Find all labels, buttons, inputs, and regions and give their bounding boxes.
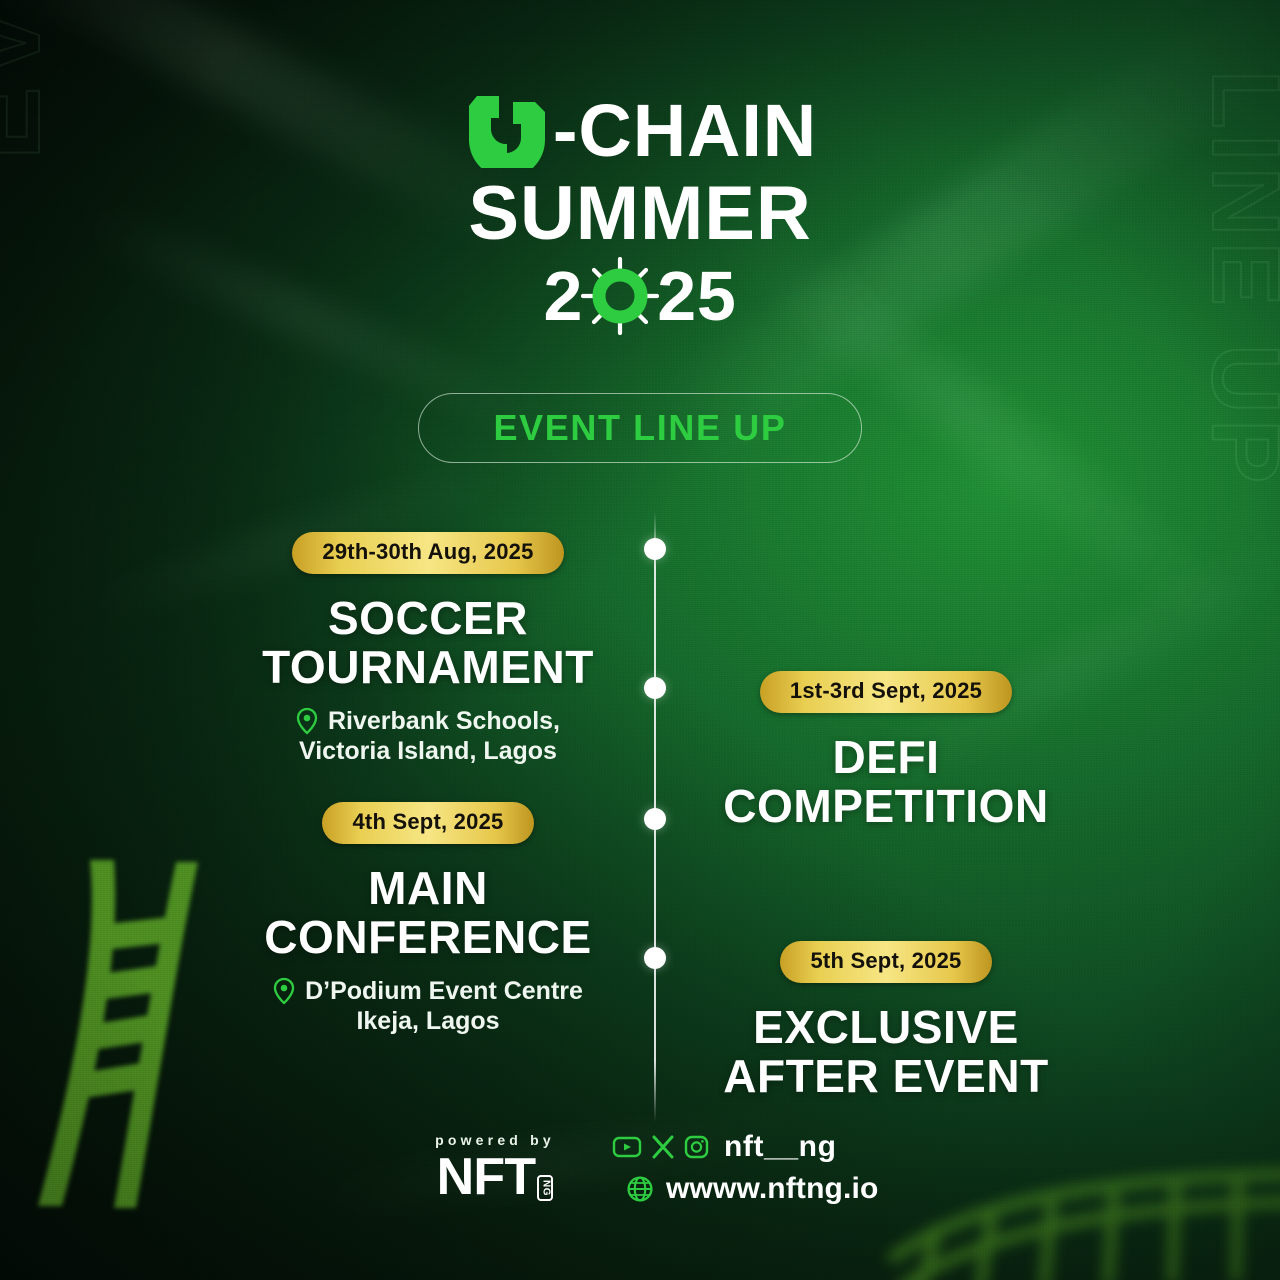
title-line-1: -CHAIN <box>0 92 1280 170</box>
event-location: D’Podium Event Centre Ikeja, Lagos <box>178 976 678 1036</box>
poster-content: -CHAIN SUMMER 2 <box>0 0 1280 1280</box>
event-card-defi-competition: 1st-3rd Sept, 2025 DEFI COMPETITION <box>636 671 1136 831</box>
year-suffix: 25 <box>657 261 736 331</box>
event-title-line-1: DEFI <box>636 733 1136 782</box>
event-title-line-1: SOCCER <box>178 594 678 643</box>
event-title: EXCLUSIVE AFTER EVENT <box>636 1003 1136 1101</box>
title-block: -CHAIN SUMMER 2 <box>0 92 1280 332</box>
powered-by-block: powered by NFT NG <box>420 1132 570 1201</box>
event-date-badge: 5th Sept, 2025 <box>780 941 991 983</box>
nft-logo: NFT NG <box>420 1154 570 1201</box>
x-twitter-icon[interactable] <box>651 1135 675 1159</box>
event-title-line-1: EXCLUSIVE <box>636 1003 1136 1052</box>
un-chain-link-icon <box>463 94 549 168</box>
social-block: nft__ng wwww.nftng.io <box>612 1130 878 1206</box>
event-location-line-2: Ikeja, Lagos <box>178 1006 678 1036</box>
event-title-line-2: COMPETITION <box>636 782 1136 831</box>
event-location-line-2: Victoria Island, Lagos <box>178 736 678 766</box>
instagram-icon[interactable] <box>684 1135 709 1159</box>
website-text[interactable]: wwww.nftng.io <box>666 1172 878 1206</box>
title-summer-text: SUMMER <box>0 176 1280 252</box>
event-date-badge: 4th Sept, 2025 <box>322 802 533 844</box>
event-card-main-conference: 4th Sept, 2025 MAIN CONFERENCE D’Podium … <box>178 802 678 1036</box>
footer: powered by NFT NG <box>0 1124 1280 1234</box>
event-title: MAIN CONFERENCE <box>178 864 678 962</box>
title-chain-text: -CHAIN <box>553 94 817 168</box>
event-date-badge: 1st-3rd Sept, 2025 <box>760 671 1012 713</box>
event-date-badge: 29th-30th Aug, 2025 <box>292 532 563 574</box>
title-year: 2 25 <box>0 260 1280 332</box>
event-lineup-badge: EVENT LINE UP <box>418 393 862 463</box>
sun-icon <box>581 257 659 335</box>
event-title: SOCCER TOURNAMENT <box>178 594 678 692</box>
globe-icon[interactable] <box>626 1175 654 1203</box>
social-handle-text[interactable]: nft__ng <box>724 1130 837 1164</box>
powered-by-label: powered by <box>420 1132 570 1148</box>
year-prefix: 2 <box>544 261 584 331</box>
map-pin-icon <box>273 977 295 1005</box>
nft-logo-badge: NG <box>537 1175 553 1201</box>
event-location: Riverbank Schools, Victoria Island, Lago… <box>178 706 678 766</box>
map-pin-icon <box>296 707 318 735</box>
website-row[interactable]: wwww.nftng.io <box>626 1172 878 1206</box>
event-location-line-1: Riverbank Schools, <box>328 706 560 736</box>
event-title: DEFI COMPETITION <box>636 733 1136 831</box>
event-title-line-1: MAIN <box>178 864 678 913</box>
nft-logo-text: NFT <box>437 1154 536 1201</box>
event-title-line-2: AFTER EVENT <box>636 1052 1136 1101</box>
youtube-icon[interactable] <box>612 1135 642 1159</box>
event-card-exclusive-after-event: 5th Sept, 2025 EXCLUSIVE AFTER EVENT <box>636 941 1136 1101</box>
event-title-line-2: TOURNAMENT <box>178 643 678 692</box>
event-card-soccer-tournament: 29th-30th Aug, 2025 SOCCER TOURNAMENT Ri… <box>178 532 678 766</box>
poster-canvas: EVENT LINE UP -CHAIN SUMMER 2 <box>0 0 1280 1280</box>
event-lineup-label: EVENT LINE UP <box>493 407 786 449</box>
event-title-line-2: CONFERENCE <box>178 913 678 962</box>
event-location-line-1: D’Podium Event Centre <box>305 976 583 1006</box>
social-handle-row[interactable]: nft__ng <box>612 1130 878 1164</box>
